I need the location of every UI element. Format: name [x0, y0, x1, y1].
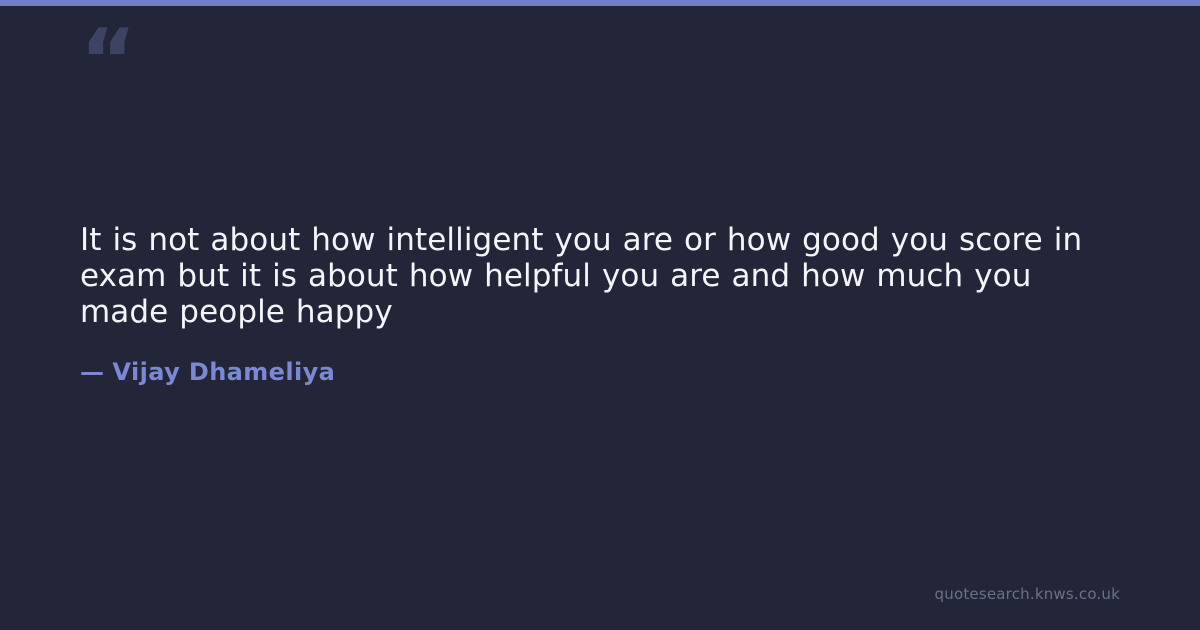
- quotation-mark-icon: “: [80, 18, 140, 88]
- site-watermark: quotesearch.knws.co.uk: [935, 585, 1120, 603]
- attribution-dash: —: [80, 357, 112, 387]
- quote-content: It is not about how intelligent you are …: [80, 222, 1110, 387]
- top-accent-bar: [0, 0, 1200, 6]
- quote-card: “ It is not about how intelligent you ar…: [0, 0, 1200, 630]
- quote-text: It is not about how intelligent you are …: [80, 222, 1110, 330]
- attribution-author: Vijay Dhameliya: [112, 358, 335, 386]
- quote-attribution: —Vijay Dhameliya: [80, 330, 1110, 387]
